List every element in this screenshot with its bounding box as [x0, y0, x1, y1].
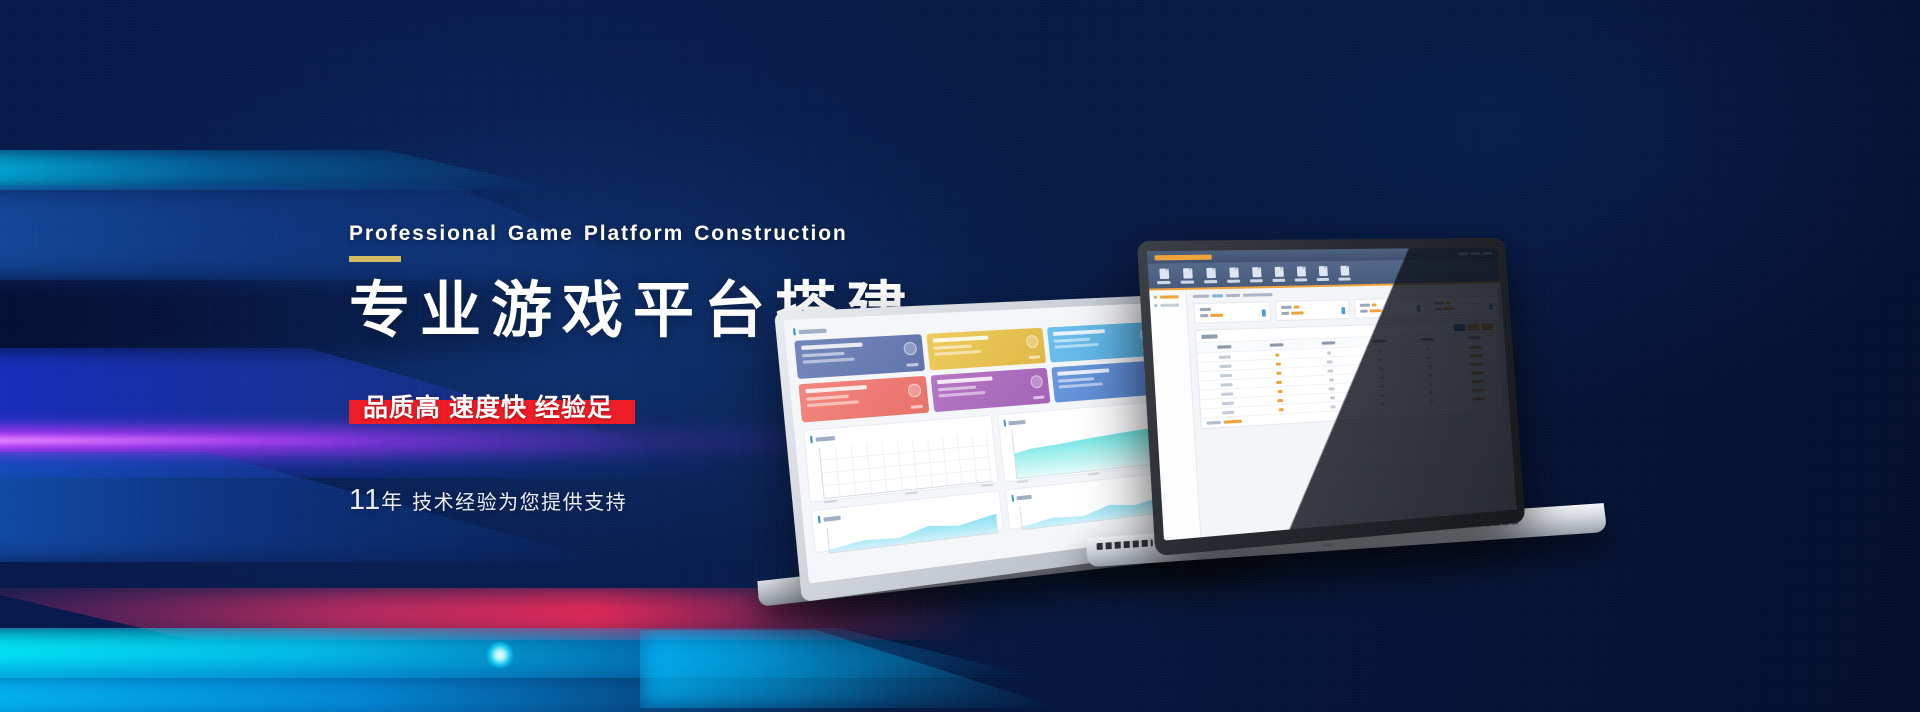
- toolbar-item[interactable]: [1338, 265, 1352, 280]
- chart-panel[interactable]: [803, 415, 999, 503]
- add-button[interactable]: [1468, 324, 1480, 331]
- query-button[interactable]: [1454, 324, 1466, 331]
- table-button-group: [1454, 323, 1494, 331]
- chart-empty-grid: [819, 433, 993, 499]
- laptop-group: [0, 0, 1920, 712]
- toolbar-item[interactable]: [1272, 266, 1287, 281]
- toolbar-item[interactable]: [1156, 268, 1171, 284]
- stat-card[interactable]: [1353, 297, 1425, 318]
- data-table: [1195, 320, 1505, 429]
- laptop-front-lid: [1137, 238, 1525, 556]
- stat-tile[interactable]: [926, 328, 1046, 371]
- permission-icon: [1296, 266, 1305, 276]
- export-button[interactable]: [1482, 323, 1494, 330]
- sidebar-item-home[interactable]: [1154, 295, 1182, 299]
- stat-card[interactable]: [1193, 301, 1271, 324]
- tile-clock-icon: [1030, 375, 1043, 389]
- stat-card[interactable]: [1428, 296, 1497, 317]
- toolbar-item[interactable]: [1226, 267, 1241, 282]
- laptop-front-screen: [1147, 247, 1517, 540]
- home-icon: [1159, 268, 1169, 279]
- app-user-area[interactable]: [1458, 252, 1492, 255]
- app-body: [1149, 283, 1516, 540]
- stat-tile[interactable]: [798, 376, 929, 423]
- stat-card-row: [1193, 296, 1497, 324]
- table-caption: [1201, 334, 1217, 339]
- orders-icon: [1206, 267, 1216, 277]
- toolbar-item[interactable]: [1249, 267, 1264, 282]
- users-icon: [1182, 268, 1192, 278]
- laptop-front: [1145, 238, 1535, 538]
- toolbar-item[interactable]: [1180, 268, 1195, 284]
- app-title: [1154, 254, 1211, 260]
- tile-face-icon: [1026, 335, 1039, 348]
- caption-tick-icon: [793, 328, 796, 336]
- stat-tile[interactable]: [930, 368, 1051, 412]
- chart-area-cyan: [1011, 418, 1166, 479]
- laptop-ports: [1097, 539, 1153, 550]
- toolbar-item[interactable]: [1294, 266, 1308, 281]
- sidebar-bullet-icon: [1154, 304, 1157, 307]
- caption-text: [799, 328, 827, 334]
- banner-root: ProfessionalGamePlatformConstruction 专业游…: [0, 0, 1920, 712]
- settings-icon: [1340, 265, 1349, 275]
- card-chart-icon: [1341, 307, 1345, 314]
- finance-icon: [1274, 266, 1283, 276]
- notice-icon: [1252, 267, 1261, 277]
- sidebar-item-data[interactable]: [1154, 303, 1182, 307]
- tile-link-icon: [907, 383, 921, 397]
- card-chart-icon: [1489, 303, 1493, 310]
- toolbar-item[interactable]: [1203, 267, 1218, 283]
- toolbar-item[interactable]: [1316, 266, 1330, 281]
- admin-app: [1147, 247, 1517, 540]
- stat-card[interactable]: [1275, 299, 1350, 321]
- app-main-content: [1186, 283, 1516, 537]
- card-chart-icon: [1416, 305, 1420, 312]
- card-chart-icon: [1262, 309, 1266, 316]
- laptop-trackpad-notch: [1323, 543, 1333, 548]
- sidebar-bullet-icon: [1154, 296, 1157, 299]
- stat-tile[interactable]: [794, 334, 925, 379]
- log-icon: [1318, 266, 1327, 276]
- report-icon: [1229, 267, 1239, 277]
- tile-user-icon: [903, 342, 917, 356]
